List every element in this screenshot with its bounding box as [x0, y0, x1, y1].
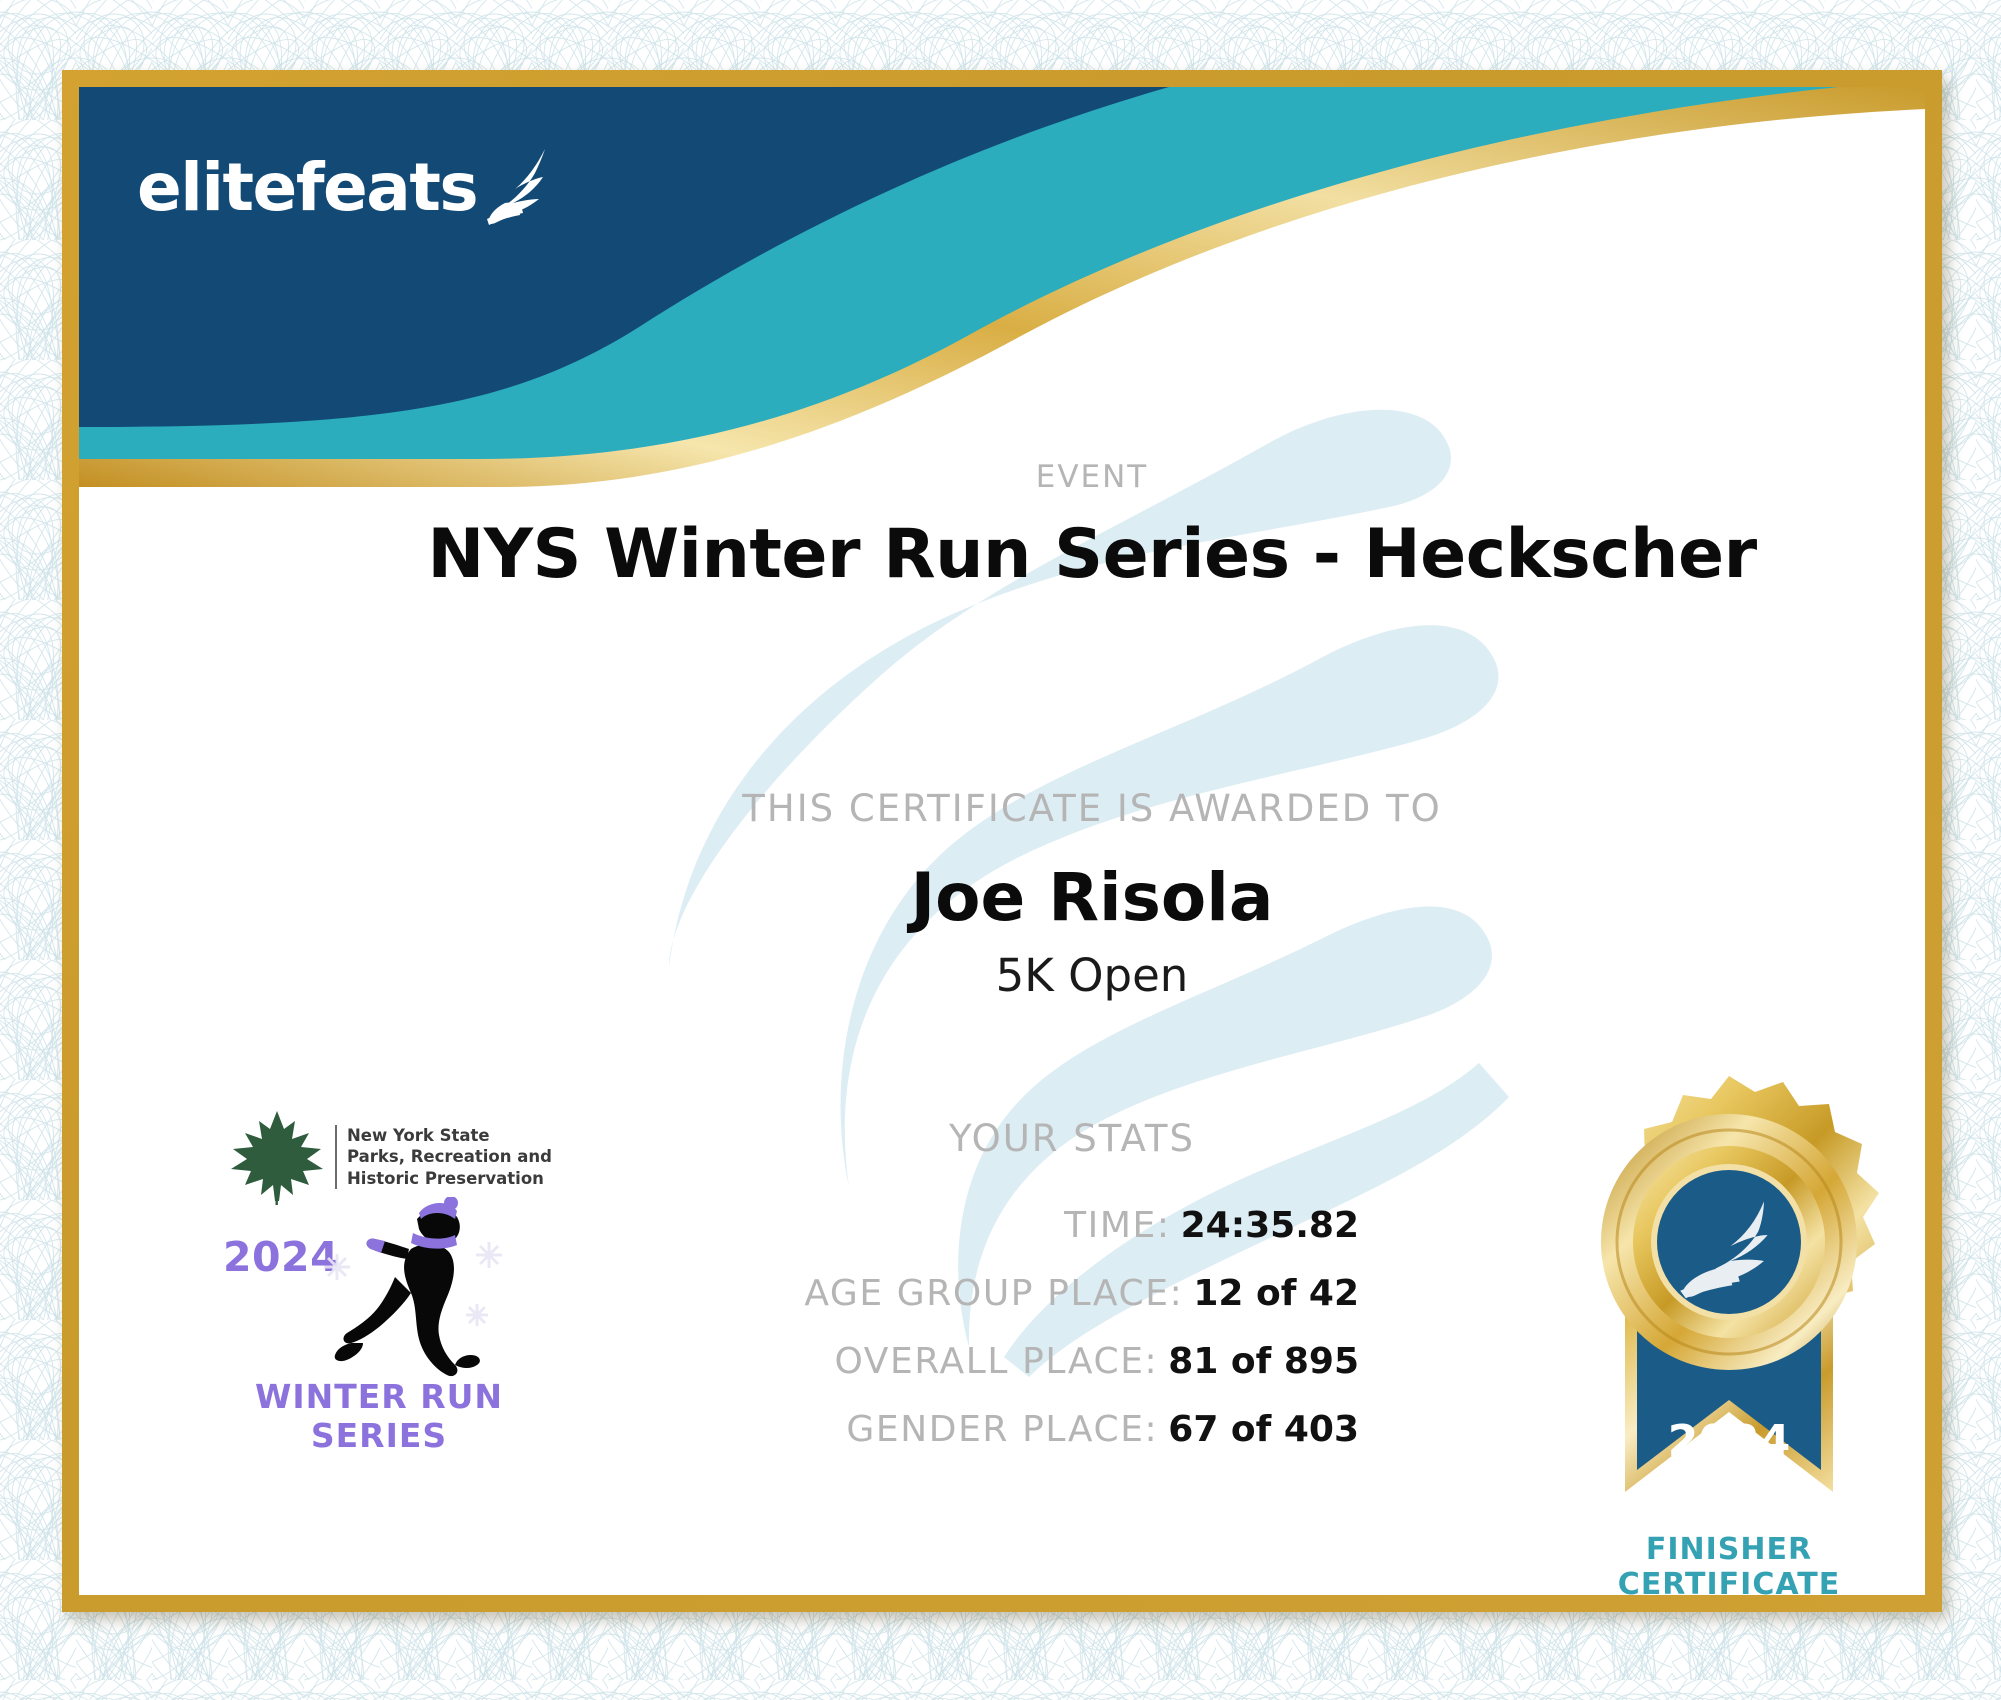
- certificate-gold-frame: elitefeats EVENT NYS Winter Run Series -…: [62, 70, 1942, 1612]
- badge-caption-line-2: CERTIFICATE: [1519, 1567, 1925, 1595]
- event-label: EVENT: [79, 459, 1925, 495]
- event-title: NYS Winter Run Series - Heckscher: [79, 515, 1925, 594]
- stat-value: 81 of 895: [1168, 1341, 1359, 1382]
- stat-key: OVERALL PLACE:: [834, 1341, 1158, 1382]
- stat-key: GENDER PLACE:: [846, 1409, 1158, 1450]
- recipient-name: Joe Risola: [79, 859, 1925, 936]
- nys-parks-logo: New York State Parks, Recreation and His…: [229, 1107, 559, 1207]
- awarded-to-label: THIS CERTIFICATE IS AWARDED TO: [79, 787, 1925, 830]
- running-figure-icon: [299, 1197, 529, 1387]
- certificate-page: elitefeats EVENT NYS Winter Run Series -…: [0, 0, 2001, 1700]
- nys-line-2: Parks, Recreation and: [347, 1146, 552, 1167]
- stat-value: 24:35.82: [1181, 1205, 1359, 1246]
- stat-value: 12 of 42: [1193, 1273, 1359, 1314]
- stat-row-age-group-place: AGE GROUP PLACE: 12 of 42: [599, 1273, 1359, 1314]
- winter-run-series-title: WINTER RUN SERIES: [199, 1377, 559, 1455]
- stat-value: 67 of 403: [1168, 1409, 1359, 1450]
- certificate-body: elitefeats EVENT NYS Winter Run Series -…: [79, 87, 1925, 1595]
- stat-row-overall-place: OVERALL PLACE: 81 of 895: [599, 1341, 1359, 1382]
- stat-row-gender-place: GENDER PLACE: 67 of 403: [599, 1409, 1359, 1450]
- finisher-medal-badge: 2024: [1519, 1072, 1925, 1552]
- stats-list: TIME: 24:35.82 AGE GROUP PLACE: 12 of 42…: [599, 1205, 1359, 1477]
- winged-foot-icon: [481, 145, 557, 227]
- winter-run-series-logo: 2024: [199, 1197, 559, 1447]
- stat-key: AGE GROUP PLACE:: [804, 1273, 1183, 1314]
- division-label: 5K Open: [79, 949, 1925, 1002]
- stat-row-time: TIME: 24:35.82: [599, 1205, 1359, 1246]
- certificate-content: EVENT NYS Winter Run Series - Heckscher …: [79, 87, 1925, 1595]
- nys-line-3: Historic Preservation: [347, 1168, 552, 1189]
- badge-year-text: 2024: [1668, 1416, 1790, 1467]
- maple-leaf-icon: [229, 1107, 325, 1207]
- nys-line-1: New York State: [347, 1125, 552, 1146]
- brand-wordmark: elitefeats: [137, 155, 477, 221]
- stat-key: TIME:: [1064, 1205, 1171, 1246]
- nys-parks-text: New York State Parks, Recreation and His…: [335, 1125, 552, 1188]
- brand-logo: elitefeats: [137, 145, 557, 221]
